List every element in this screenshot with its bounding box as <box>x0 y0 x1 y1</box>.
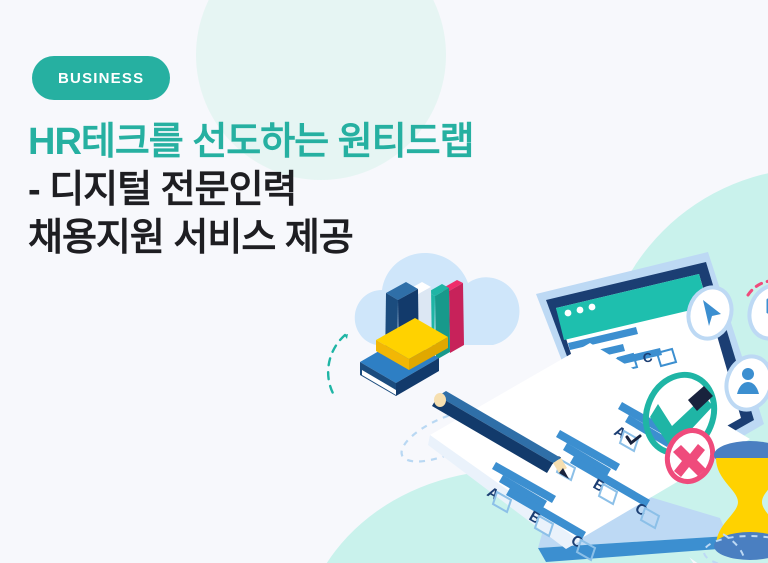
banner-root: BUSINESS HR테크를 선도하는 원티드랩 - 디지털 전문인력 채용지원… <box>0 0 768 563</box>
browser-dot-icon <box>577 307 584 314</box>
cloud-with-books <box>355 253 520 396</box>
clock-circle-ring-icon <box>743 280 768 345</box>
teal-dashed-arc-icon <box>328 335 345 397</box>
clock-circle-badge <box>743 280 768 345</box>
browser-dot-icon <box>565 310 572 317</box>
book-pink-side <box>449 283 464 353</box>
illustration: A B C A B C <box>0 0 768 563</box>
user-head-icon <box>742 368 754 380</box>
browser-dot-icon <box>589 304 596 311</box>
pencil-eraser <box>434 393 446 407</box>
